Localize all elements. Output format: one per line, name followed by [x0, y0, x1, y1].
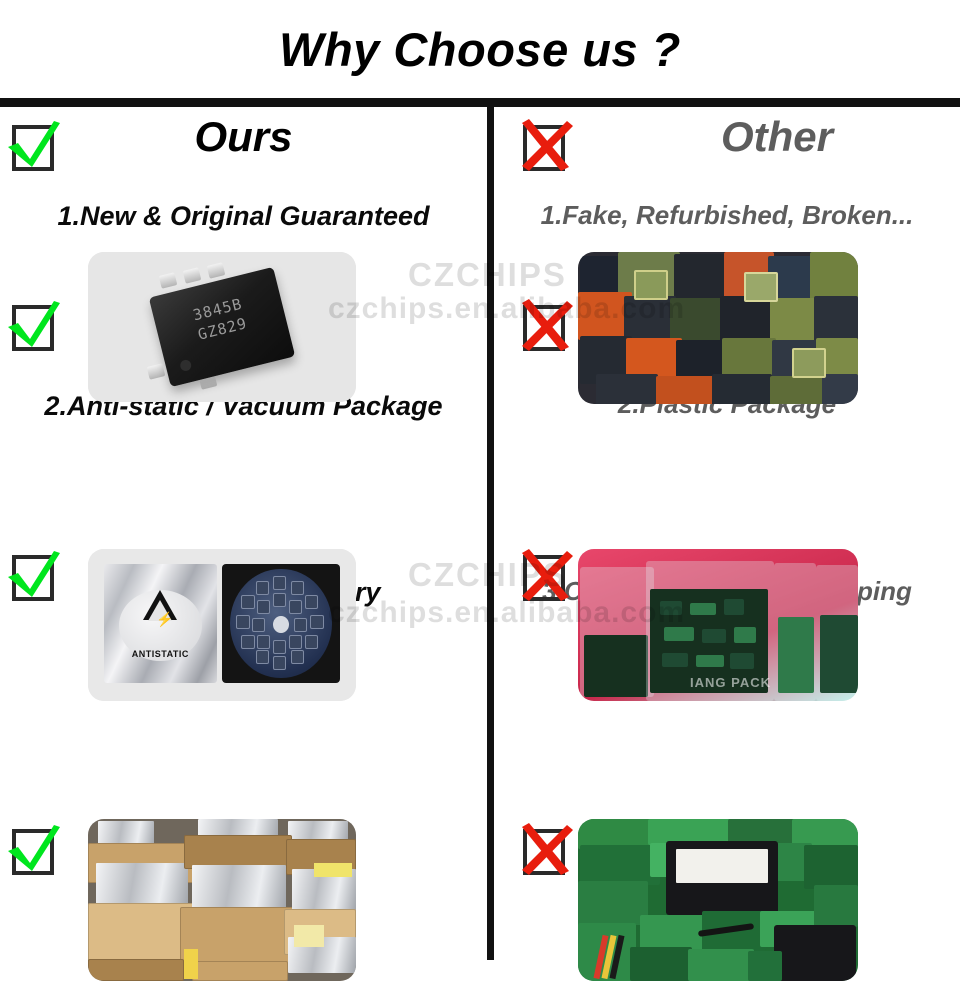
image-scrap-pcb-pile [578, 819, 858, 981]
image-cartons-of-antistatic-bags [88, 819, 356, 981]
antistatic-bag: ⚡ ANTISTATIC [104, 564, 217, 683]
check-glyph [4, 295, 64, 355]
page-title: Why Choose us ? [279, 22, 681, 77]
image-ic-chip-sop8: 3845B GZ829 [88, 252, 356, 402]
cross-glyph [515, 115, 575, 175]
row-other-1-heading: 1.Fake, Refurbished, Broken... [494, 187, 960, 230]
title-bar: Why Choose us ? [0, 0, 960, 98]
cross-glyph [515, 295, 575, 355]
cross-glyph [515, 819, 575, 879]
check-icon-ours-row-2 [4, 545, 64, 605]
antistatic-bag-label: ANTISTATIC [104, 649, 217, 659]
cross-icon-other-row-2 [515, 545, 575, 605]
check-icon-ours-row-3 [4, 819, 64, 879]
image-antistatic-bag-and-reel: ⚡ ANTISTATIC [88, 549, 356, 701]
image-pile-of-broken-chips [578, 252, 858, 404]
column-divider [487, 107, 494, 960]
column-header-ours-label: Ours [0, 113, 527, 161]
header-divider-rule [0, 98, 960, 107]
cross-glyph [515, 545, 575, 605]
component-reel-tray [222, 564, 340, 683]
image-pcbs-in-plastic-bags: IANG PACK [578, 549, 858, 701]
column-header-ours: Ours [0, 107, 487, 187]
comparison-grid: Ours 1.New & Original Guaranteed 2.Anti-… [0, 107, 960, 960]
row-ours-1-heading: 1.New & Original Guaranteed [0, 187, 487, 231]
cross-icon-other-header [515, 115, 575, 175]
check-glyph [4, 819, 64, 879]
check-icon-ours-header [4, 115, 64, 175]
pack-watermark: IANG PACK [690, 675, 771, 690]
check-glyph [4, 115, 64, 175]
check-icon-ours-row-1 [4, 295, 64, 355]
cross-icon-other-row-3 [515, 819, 575, 879]
check-glyph [4, 545, 64, 605]
why-choose-us-infographic: Why Choose us ? Ours 1.New & Original Gu… [0, 0, 960, 960]
cross-icon-other-row-1 [515, 295, 575, 355]
row-ours-1: 1.New & Original Guaranteed [0, 187, 487, 231]
row-other-1: 1.Fake, Refurbished, Broken... [494, 187, 960, 230]
